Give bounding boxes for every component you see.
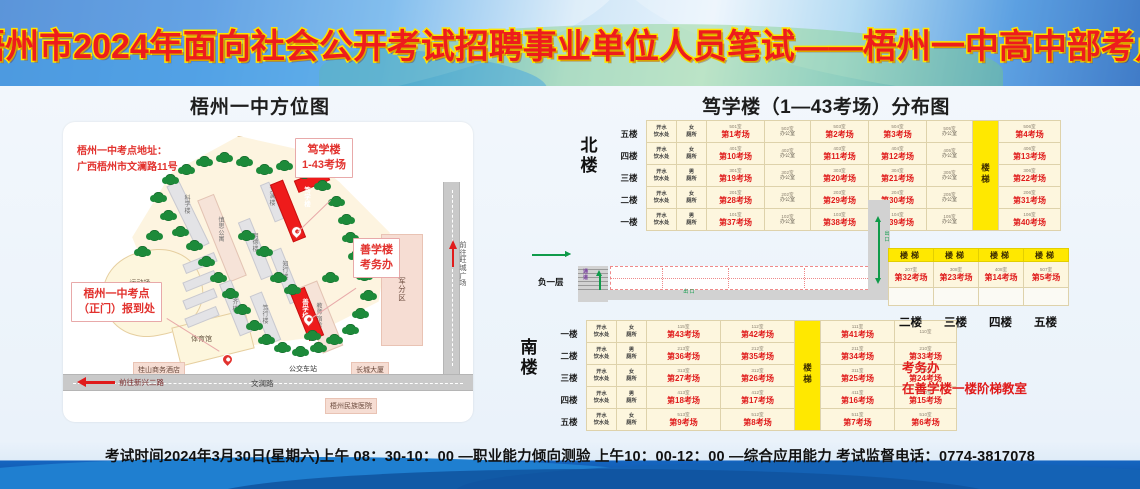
arrow-head-down — [875, 278, 881, 284]
blank-cell — [979, 288, 1024, 306]
exam-room-name: 第9考场 — [647, 418, 720, 428]
exam-room-name: 第40考场 — [999, 218, 1060, 228]
callout-shanxue-line2: 考务办 — [360, 258, 393, 273]
road-wenlan-label: 文澜路 — [251, 378, 274, 389]
office-cell: 205室办公室 — [927, 187, 973, 209]
exam-room-name: 第32考场 — [889, 273, 933, 283]
water-label-2: 饮水处 — [647, 176, 676, 183]
direction-arrow-left-stem — [85, 381, 115, 384]
mid-stair-header-cell: 楼梯 — [934, 249, 979, 262]
tree-icon — [287, 284, 298, 295]
blank-cell — [934, 288, 979, 306]
mid-stair-floor-label: 五楼 — [1023, 314, 1068, 330]
north-rooms-table: 开水饮水处女厕所501室第1考场502室办公室503室第2考场504室第3考场5… — [646, 120, 1061, 231]
address-note: 梧州一中考点地址： 广西梧州市文澜路11号 — [77, 144, 178, 175]
exam-room-cell[interactable]: 308室第23考场 — [934, 262, 979, 288]
exam-room-cell[interactable]: 413室第18考场 — [647, 387, 721, 409]
mid-stair-header-cell: 楼梯 — [1024, 249, 1069, 262]
tree-icon — [279, 160, 290, 171]
exam-room-cell[interactable]: 206室第31考场 — [999, 187, 1061, 209]
exam-room-cell[interactable]: 403室第11考场 — [811, 143, 869, 165]
building-layout-title: 笃学楼（1—43考场）分布图 — [512, 86, 1140, 119]
callout-shanxue-line1: 善学楼 — [360, 243, 393, 258]
north-label-char1: 北 — [580, 136, 598, 156]
exam-room-name: 第42考场 — [721, 330, 794, 340]
exam-room-cell[interactable]: 411室第16考场 — [821, 387, 895, 409]
address-line-1: 梧州一中考点地址： — [77, 144, 178, 160]
floor-label: 四楼 — [616, 145, 642, 167]
toilet-cell: 女厕所 — [677, 121, 707, 143]
tree-icon — [213, 272, 224, 283]
building-label: 慎思公寓 — [217, 218, 226, 243]
green-arrow-right-icon — [532, 260, 572, 268]
office-cell: 402室办公室 — [765, 143, 811, 165]
page-title: 梧州市2024年面向社会公开考试招聘事业单位人员笔试——梧州一中高中部考点 — [0, 0, 1140, 86]
page-footer: 考试时间2024年3月30日(星期六)上午 08：30-10：00 —职业能力倾… — [0, 441, 1140, 489]
campus-map-canvas: 运动场 体育馆 科学楼 慎思公寓 明德楼 思齐楼 笃行楼 知行楼 — [63, 122, 473, 422]
callout-shanxue[interactable]: 善学楼 考务办 — [353, 238, 400, 278]
exam-room-cell[interactable]: 211室第34考场 — [821, 343, 895, 365]
exam-room-cell[interactable]: 303室第20考场 — [811, 165, 869, 187]
office-cell: 102室办公室 — [765, 209, 811, 231]
mid-stair-header-cell: 楼梯 — [889, 249, 934, 262]
exam-room-name: 第38考场 — [811, 218, 868, 228]
tree-icon — [163, 210, 174, 221]
toilet-label-2: 厕所 — [677, 132, 706, 139]
corridor-divider — [662, 268, 663, 288]
tree-icon — [307, 330, 318, 341]
office-label: 办公室 — [927, 153, 972, 159]
office-label: 办公室 — [765, 131, 810, 137]
exam-room-name: 第2考场 — [811, 130, 868, 140]
callout-duxue-line2: 1-43考场 — [302, 158, 346, 173]
exam-room-cell[interactable]: 401室第10考场 — [707, 143, 765, 165]
exam-room-cell[interactable]: 207室第32考场 — [889, 262, 934, 288]
office-cell: 505室办公室 — [927, 121, 973, 143]
blank-cell — [889, 288, 934, 306]
exam-room-cell[interactable]: 203室第29考场 — [811, 187, 869, 209]
water-label-2: 饮水处 — [587, 420, 616, 427]
direction-arrow-up-stem — [452, 249, 454, 267]
mid-stair-header-row: 楼梯楼梯楼梯楼梯 — [889, 249, 1069, 262]
corridor-floor-strip — [578, 290, 888, 300]
road-right-label: 前往旺城广场 — [459, 242, 467, 288]
mid-stair-floor-label: 四楼 — [978, 314, 1023, 330]
callout-gate-line1: 梧州一中考点 — [78, 287, 155, 302]
exam-room-name: 第26考场 — [721, 374, 794, 384]
toilet-cell: 女厕所 — [617, 365, 647, 387]
stair-label: 楼梯 — [980, 163, 992, 186]
exam-room-name: 第16考场 — [821, 396, 894, 406]
road-left-label: 前往新兴二路 — [119, 377, 164, 388]
tree-icon — [137, 246, 148, 257]
exam-room-cell[interactable]: 512室第8考场 — [721, 409, 795, 431]
exam-room-name: 第7考场 — [821, 418, 894, 428]
exam-room-name: 第25考场 — [821, 374, 894, 384]
floor-label: 五楼 — [616, 123, 642, 145]
arrow-stem — [532, 254, 566, 256]
campus-map-panel: 梧州一中方位图 运动场 体育馆 科学楼 慎思公寓 明德楼 思齐楼 — [10, 86, 510, 441]
corridor-flow-label: 出 口 — [682, 290, 696, 296]
mid-stair-room-row: 207室第32考场308室第23考场408室第14考场507室第5考场 — [889, 262, 1069, 288]
exam-room-name: 第31考场 — [999, 196, 1060, 206]
building-label: 笃行楼 — [261, 306, 270, 325]
exam-room-name: 第11考场 — [811, 152, 868, 162]
exam-room-cell[interactable]: 504室第3考场 — [869, 121, 927, 143]
campus-map-frame: 运动场 体育馆 科学楼 慎思公寓 明德楼 思齐楼 笃行楼 知行楼 — [63, 122, 473, 422]
north-label-char2: 楼 — [580, 156, 598, 176]
room-row: 开水饮水处女厕所201室第28考场202室办公室203室第29考场204室第30… — [647, 187, 1061, 209]
office-cell: 405室办公室 — [927, 143, 973, 165]
tree-icon — [261, 334, 272, 345]
poi-hospital: 梧州民族医院 — [325, 398, 377, 414]
south-label-char1: 南 — [520, 338, 538, 358]
water-label-2: 饮水处 — [587, 354, 616, 361]
arrow-head-right — [565, 251, 571, 257]
tree-icon — [249, 320, 260, 331]
tree-icon — [259, 164, 270, 175]
office-label: 办公室 — [927, 197, 972, 203]
building-label: 科学楼 — [183, 196, 192, 215]
toilet-label-2: 厕所 — [617, 332, 646, 339]
exam-room-name: 第14考场 — [979, 273, 1023, 283]
exam-room-cell[interactable]: 404室第12考场 — [869, 143, 927, 165]
floor-label: 一楼 — [616, 211, 642, 233]
water-label-2: 饮水处 — [647, 132, 676, 139]
office-cell: 105室办公室 — [927, 209, 973, 231]
stair-cell: 楼梯 — [973, 121, 999, 231]
corridor-divider — [728, 268, 729, 288]
tree-icon — [325, 272, 336, 283]
direction-arrow-up-icon — [449, 240, 457, 249]
mid-stair-floor-label: 二楼 — [888, 314, 933, 330]
water-cell: 开水饮水处 — [647, 165, 677, 187]
exam-office-note: 考务办 在善学楼一楼阶梯教室 — [902, 358, 1027, 401]
exam-room-cell[interactable]: 213室第36考场 — [647, 343, 721, 365]
exam-room-name: 第36考场 — [647, 352, 720, 362]
main-content: 梧州一中方位图 运动场 体育馆 科学楼 慎思公寓 明德楼 思齐楼 — [0, 86, 1140, 441]
road-dash — [452, 190, 453, 366]
toilet-cell: 男厕所 — [617, 343, 647, 365]
toilet-cell: 女厕所 — [617, 321, 647, 343]
exam-room-name: 第29考场 — [811, 196, 868, 206]
tree-icon — [313, 342, 324, 353]
exam-room-name: 第18考场 — [647, 396, 720, 406]
tree-icon — [201, 256, 212, 267]
page-banner: 梧州市2024年面向社会公开考试招聘事业单位人员笔试——梧州一中高中部考点 — [0, 0, 1140, 86]
tree-icon — [225, 288, 236, 299]
tree-icon — [259, 246, 270, 257]
tree-icon — [345, 324, 356, 335]
exam-room-name: 第1考场 — [707, 130, 764, 140]
tree-icon — [219, 152, 230, 163]
exam-room-name: 第20考场 — [811, 174, 868, 184]
direction-arrow-left-icon — [77, 377, 86, 387]
green-arrow-right-icon — [532, 268, 572, 276]
exam-room-cell[interactable]: 510室第6考场 — [895, 409, 957, 431]
blank-cell — [1024, 288, 1069, 306]
exam-room-cell[interactable]: 408室第14考场 — [979, 262, 1024, 288]
tree-icon — [153, 192, 164, 203]
floor-label: 二楼 — [556, 345, 582, 367]
exam-room-name: 第3考场 — [869, 130, 926, 140]
room-row: 开水饮水处男厕所101室第37考场102室办公室103室第38考场104室第39… — [647, 209, 1061, 231]
toilet-cell: 女厕所 — [677, 143, 707, 165]
water-label-2: 饮水处 — [587, 332, 616, 339]
toilet-label-2: 厕所 — [677, 176, 706, 183]
exam-room-name: 第41考场 — [821, 330, 894, 340]
exam-room-cell[interactable]: 503室第2考场 — [811, 121, 869, 143]
tree-icon — [237, 304, 248, 315]
exam-room-name: 第13考场 — [999, 152, 1060, 162]
basement-label: 负一层 — [538, 276, 564, 288]
exam-room-name: 第10考场 — [707, 152, 764, 162]
floor-label: 一楼 — [556, 323, 582, 345]
stairs-glyph-label: 通道 — [582, 270, 589, 281]
exam-room-cell[interactable]: 115室第43考场 — [647, 321, 721, 343]
tree-icon — [331, 196, 342, 207]
exam-room-cell[interactable]: 501室第1考场 — [707, 121, 765, 143]
tree-icon — [181, 164, 192, 175]
exam-room-cell[interactable]: 406室第13考场 — [999, 143, 1061, 165]
exam-room-cell[interactable]: 103室第38考场 — [811, 209, 869, 231]
exam-room-cell[interactable]: 304室第21考场 — [869, 165, 927, 187]
floor-label: 二楼 — [616, 189, 642, 211]
office-label: 办公室 — [765, 153, 810, 159]
building-layout-panel: 笃学楼（1—43考场）分布图 北 楼 五楼四楼三楼二楼一楼 开水饮水处女厕所50… — [512, 86, 1140, 441]
mid-stair-header-cell: 楼梯 — [979, 249, 1024, 262]
exam-room-name: 第37考场 — [707, 218, 764, 228]
exam-room-cell[interactable]: 201室第28考场 — [707, 187, 765, 209]
office-label: 办公室 — [927, 175, 972, 181]
toilet-label-2: 厕所 — [617, 420, 646, 427]
office-cell: 202室办公室 — [765, 187, 811, 209]
water-label-2: 饮水处 — [587, 398, 616, 405]
stair-label: 楼梯 — [802, 363, 814, 386]
tree-icon — [149, 230, 160, 241]
water-label-2: 饮水处 — [587, 376, 616, 383]
toilet-cell: 女厕所 — [677, 187, 707, 209]
exam-room-name: 第28考场 — [707, 196, 764, 206]
exam-room-cell[interactable]: 513室第9考场 — [647, 409, 721, 431]
tree-icon — [355, 308, 366, 319]
office-label: 办公室 — [765, 219, 810, 225]
toilet-label-2: 厕所 — [677, 198, 706, 205]
south-floor-column: 一楼二楼三楼四楼五楼 — [556, 322, 582, 433]
exam-room-cell[interactable]: 313室第27考场 — [647, 365, 721, 387]
corridor-divider — [804, 268, 805, 288]
exam-room-cell[interactable]: 312室第26考场 — [721, 365, 795, 387]
tree-icon — [341, 214, 352, 225]
tree-icon — [329, 334, 340, 345]
exam-room-cell[interactable]: 106室第40考场 — [999, 209, 1061, 231]
toilet-label-2: 厕所 — [617, 398, 646, 405]
south-building-label: 南 楼 — [520, 338, 538, 377]
office-label: 办公室 — [765, 175, 810, 181]
mid-stair-floor-labels: 二楼三楼四楼五楼 — [888, 314, 1068, 330]
address-line-2: 广西梧州市文澜路11号 — [77, 160, 178, 176]
exam-room-name: 第35考场 — [721, 352, 794, 362]
toilet-cell: 女厕所 — [617, 409, 647, 431]
vertical-corridor-label: 出口 — [884, 232, 890, 243]
exam-room-cell[interactable]: 506室第4考场 — [999, 121, 1061, 143]
water-label-2: 饮水处 — [647, 198, 676, 205]
office-label: 办公室 — [927, 219, 972, 225]
room-row: 开水饮水处女厕所401室第10考场402室办公室403室第11考场404室第12… — [647, 143, 1061, 165]
office-cell: 302室办公室 — [765, 165, 811, 187]
water-cell: 开水饮水处 — [647, 209, 677, 231]
callout-duxue-line1: 笃学楼 — [302, 143, 346, 158]
mid-stair-blank-row — [889, 288, 1069, 306]
callout-gate[interactable]: 梧州一中考点 （正门）报到处 — [71, 282, 162, 322]
office-label: 办公室 — [765, 197, 810, 203]
exam-room-cell[interactable]: 511室第7考场 — [821, 409, 895, 431]
water-cell: 开水饮水处 — [587, 365, 617, 387]
toilet-label-2: 厕所 — [677, 154, 706, 161]
exam-schedule-text: 考试时间2024年3月30日(星期六)上午 08：30-10：00 —职业能力倾… — [0, 443, 1140, 467]
tree-icon — [199, 156, 210, 167]
room-row: 开水饮水处男厕所413室第18考场412室第17考场411室第16考场410室第… — [587, 387, 957, 409]
water-cell: 开水饮水处 — [587, 321, 617, 343]
green-arrow-vertical-icon — [875, 216, 883, 284]
room-row: 开水饮水处女厕所513室第9考场512室第8考场511室第7考场510室第6考场 — [587, 409, 957, 431]
south-label-char2: 楼 — [520, 358, 538, 378]
exam-room-name: 第34考场 — [821, 352, 894, 362]
corridor-diagram: 负一层 通道 — [532, 252, 932, 314]
water-cell: 开水饮水处 — [587, 387, 617, 409]
room-row: 开水饮水处男厕所301室第19考场302室办公室303室第20考场304室第21… — [647, 165, 1061, 187]
military-district-label: 军分区 — [398, 278, 407, 303]
mid-stair-table: 楼梯楼梯楼梯楼梯207室第32考场308室第23考场408室第14考场507室第… — [888, 248, 1069, 306]
exam-office-note-line1: 考务办 — [902, 358, 1027, 379]
office-cell: 305室办公室 — [927, 165, 973, 187]
exam-room-name: 第4考场 — [999, 130, 1060, 140]
exam-room-name: 第19考场 — [707, 174, 764, 184]
water-cell: 开水饮水处 — [647, 187, 677, 209]
water-cell: 开水饮水处 — [587, 409, 617, 431]
tree-icon — [295, 346, 306, 357]
water-label-2: 饮水处 — [647, 154, 676, 161]
north-floor-column: 五楼四楼三楼二楼一楼 — [616, 122, 642, 233]
tree-icon — [363, 290, 374, 301]
campus-map-title: 梧州一中方位图 — [10, 86, 510, 119]
stair-cell: 楼梯 — [795, 321, 821, 431]
tree-icon — [277, 342, 288, 353]
exam-room-name: 第27考场 — [647, 374, 720, 384]
exam-room-name: 第21考场 — [869, 174, 926, 184]
tree-icon — [273, 272, 284, 283]
floor-label: 四楼 — [556, 389, 582, 411]
exam-room-name: 第6考场 — [895, 418, 956, 428]
exam-room-name: 第8考场 — [721, 418, 794, 428]
exam-room-cell[interactable]: 112室第42考场 — [721, 321, 795, 343]
floor-label: 五楼 — [556, 411, 582, 433]
exam-room-cell[interactable]: 101室第37考场 — [707, 209, 765, 231]
water-cell: 开水饮水处 — [647, 143, 677, 165]
exam-room-name: 第17考场 — [721, 396, 794, 406]
duxue-building-label: 笃学楼 — [303, 188, 312, 208]
floor-label: 三楼 — [556, 367, 582, 389]
exam-room-cell[interactable]: 212室第35考场 — [721, 343, 795, 365]
callout-duxue[interactable]: 笃学楼 1-43考场 — [295, 138, 353, 178]
exam-room-name: 第43考场 — [647, 330, 720, 340]
water-label-2: 饮水处 — [647, 220, 676, 227]
toilet-label-2: 厕所 — [677, 220, 706, 227]
exam-room-name: 第12考场 — [869, 152, 926, 162]
exam-room-cell[interactable]: 507室第5考场 — [1024, 262, 1069, 288]
floor-label: 三楼 — [616, 167, 642, 189]
exam-room-name: 第22考场 — [999, 174, 1060, 184]
tree-icon — [175, 226, 186, 237]
exam-room-cell[interactable]: 311室第25考场 — [821, 365, 895, 387]
mid-stair-floor-label: 三楼 — [933, 314, 978, 330]
toilet-cell: 男厕所 — [677, 209, 707, 231]
exam-room-name: 第5考场 — [1024, 273, 1068, 283]
exam-room-cell[interactable]: 301室第19考场 — [707, 165, 765, 187]
toilet-label-2: 厕所 — [617, 354, 646, 361]
water-cell: 开水饮水处 — [647, 121, 677, 143]
toilet-cell: 男厕所 — [677, 165, 707, 187]
road-vertical — [443, 182, 460, 374]
exam-room-cell[interactable]: 412室第17考场 — [721, 387, 795, 409]
exam-office-note-line2: 在善学楼一楼阶梯教室 — [902, 379, 1027, 400]
toilet-label-2: 厕所 — [617, 376, 646, 383]
corridor-band-split — [610, 278, 888, 279]
office-label: 办公室 — [927, 131, 972, 137]
tree-icon — [317, 180, 328, 191]
water-cell: 开水饮水处 — [587, 343, 617, 365]
toilet-cell: 男厕所 — [617, 387, 647, 409]
office-cell: 502室办公室 — [765, 121, 811, 143]
room-row: 开水饮水处男厕所213室第36考场212室第35考场211室第34考场210室第… — [587, 343, 957, 365]
tree-icon — [241, 230, 252, 241]
room-row: 开水饮水处女厕所313室第27考场312室第26考场311室第25考场310室第… — [587, 365, 957, 387]
north-building-label: 北 楼 — [580, 136, 598, 175]
arrow-stem — [878, 221, 880, 279]
exam-room-cell[interactable]: 111室第41考场 — [821, 321, 895, 343]
room-row: 开水饮水处女厕所501室第1考场502室办公室503室第2考场504室第3考场5… — [647, 121, 1061, 143]
exam-room-cell[interactable]: 306室第22考场 — [999, 165, 1061, 187]
tree-icon — [239, 156, 250, 167]
tree-icon — [165, 174, 176, 185]
exam-room-name: 第23考场 — [934, 273, 978, 283]
callout-gate-line2: （正门）报到处 — [78, 302, 155, 317]
tree-icon — [189, 240, 200, 251]
